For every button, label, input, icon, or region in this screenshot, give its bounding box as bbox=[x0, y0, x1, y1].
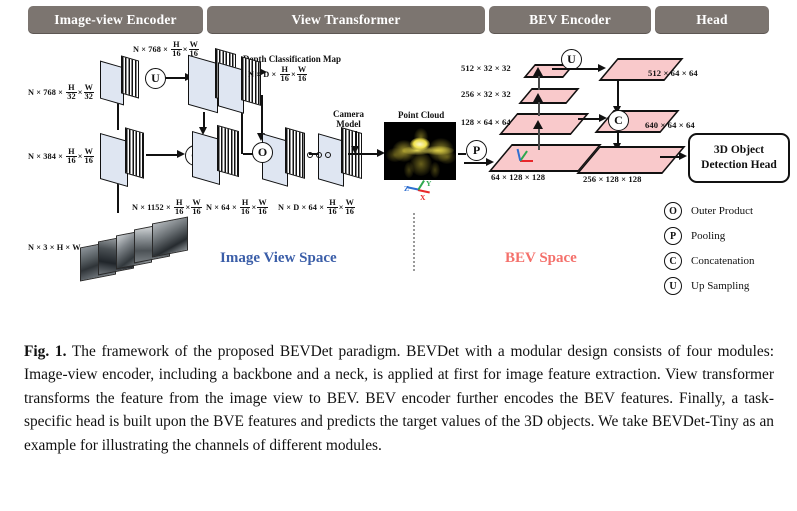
legend-row-outer-product: O Outer Product bbox=[664, 202, 753, 220]
caption-prefix: Fig. 1. bbox=[24, 343, 66, 360]
axis-x-line bbox=[520, 160, 533, 162]
operator-pooling: P bbox=[466, 140, 487, 161]
block-face bbox=[100, 133, 128, 187]
block-side bbox=[285, 127, 305, 179]
arrow-head bbox=[679, 152, 687, 160]
module-header-label: Head bbox=[696, 12, 728, 28]
arrow-head bbox=[177, 150, 185, 158]
block-side bbox=[217, 125, 239, 177]
legend-symbol: O bbox=[669, 206, 677, 217]
module-header-label: View Transformer bbox=[291, 12, 400, 28]
camera-model-line1: Camera bbox=[333, 109, 364, 119]
module-header-head: Head bbox=[655, 6, 769, 33]
figure-diagram: Image-view Encoder View Transformer BEV … bbox=[0, 0, 797, 330]
label-feat64-tensor: N × 64 × H16×W16 bbox=[206, 199, 269, 217]
arrow-bev-up-2 bbox=[538, 100, 540, 116]
module-header-label: BEV Encoder bbox=[529, 12, 611, 28]
label-bev-128-64-64: 128 × 64 × 64 bbox=[461, 117, 511, 127]
operator-symbol: C bbox=[614, 113, 623, 128]
legend-label: Outer Product bbox=[691, 205, 753, 217]
operator-symbol: U bbox=[567, 52, 576, 67]
bev-slab-256-32-32 bbox=[518, 88, 579, 104]
feature-block-frustum bbox=[318, 133, 366, 185]
label-bev-640-64-64: 640 × 64 × 64 bbox=[645, 120, 695, 130]
arrow-to-bev-concat bbox=[617, 80, 619, 108]
axis-z-line bbox=[517, 149, 521, 161]
label-bev-64-128-128: 64 × 128 × 128 bbox=[491, 172, 545, 182]
arrow-depth-to-outer bbox=[261, 95, 263, 135]
operator-up-sampling: U bbox=[145, 68, 166, 89]
feature-block-backbone-c5 bbox=[100, 60, 144, 106]
legend-label: Pooling bbox=[691, 230, 725, 242]
label-concat-tensor: N × 1152 × H16×W16 bbox=[132, 199, 203, 217]
operator-outer-product: O bbox=[252, 142, 273, 163]
label-depth-map-tensor: N × D × H16×W16 bbox=[248, 66, 308, 84]
block-side bbox=[121, 55, 139, 98]
arrow-bev-up-1 bbox=[538, 128, 540, 150]
legend-row-pooling: P Pooling bbox=[664, 227, 725, 245]
operator-up-sampling-bev: U bbox=[561, 49, 582, 70]
camera-model-line2: Model bbox=[336, 119, 361, 129]
arrow-upsample-bev bbox=[552, 68, 600, 70]
bev-slab-128-64-64 bbox=[499, 113, 589, 135]
legend-row-concatenation: C Concatenation bbox=[664, 252, 755, 270]
legend-icon-pooling: P bbox=[664, 227, 682, 245]
legend-label: Concatenation bbox=[691, 255, 755, 267]
label-bev-256-128-128: 256 × 128 × 128 bbox=[583, 174, 642, 184]
title-point-cloud: Point Cloud bbox=[398, 110, 444, 120]
axis-z-label: Z bbox=[404, 184, 409, 193]
label-bev-space: BEV Space bbox=[505, 250, 577, 267]
legend-icon-up-sampling: U bbox=[664, 277, 682, 295]
legend-label: Up Sampling bbox=[691, 280, 749, 292]
block-face bbox=[188, 55, 218, 114]
arrow-upsample bbox=[165, 77, 187, 79]
label-bev-512-32-32: 512 × 32 × 32 bbox=[461, 63, 511, 73]
axis-x-label: X bbox=[420, 193, 425, 202]
label-upsampled-tensor: N × 768 × H16×W16 bbox=[133, 41, 200, 59]
camera-image bbox=[152, 217, 188, 258]
module-header-image-view-encoder: Image-view Encoder bbox=[28, 6, 203, 33]
head-box-line1: 3D Object bbox=[714, 144, 764, 156]
label-image-view-space: Image View Space bbox=[220, 250, 337, 267]
operator-concatenation-bev: C bbox=[608, 110, 629, 131]
label-bev-256-32-32: 256 × 32 × 32 bbox=[461, 89, 511, 99]
module-header-bev-encoder: BEV Encoder bbox=[489, 6, 651, 33]
head-box-line2: Detection Head bbox=[701, 159, 777, 171]
legend-icon-concatenation: C bbox=[664, 252, 682, 270]
block-face bbox=[192, 131, 220, 185]
legend-icon-outer-product: O bbox=[664, 202, 682, 220]
arrow-pool-out bbox=[464, 162, 488, 164]
point-cloud-visualization bbox=[384, 122, 456, 180]
label-frustum-tensor: N × D × 64 × H16×W16 bbox=[278, 199, 356, 217]
space-divider bbox=[413, 213, 415, 271]
legend: O Outer Product P Pooling C Concatenatio… bbox=[664, 202, 794, 302]
module-header-label: Image-view Encoder bbox=[54, 12, 176, 28]
label-backbone-c4-tensor: N × 384 × H16×W16 bbox=[28, 148, 95, 166]
block-side bbox=[125, 127, 144, 178]
title-camera-model: Camera Model bbox=[333, 109, 364, 130]
label-backbone-c5-tensor: N × 768 × H32×W32 bbox=[28, 84, 95, 102]
figure-caption: Fig. 1. The framework of the proposed BE… bbox=[24, 340, 774, 457]
axis-y-label: Y bbox=[426, 179, 431, 188]
point-cloud-axis-triad: Z Y X bbox=[404, 181, 444, 203]
operator-symbol: O bbox=[258, 145, 267, 160]
operator-symbol: U bbox=[151, 71, 160, 86]
module-header-view-transformer: View Transformer bbox=[207, 6, 485, 33]
legend-symbol: C bbox=[669, 256, 676, 267]
input-camera-image-stack bbox=[80, 218, 188, 284]
operator-symbol: P bbox=[473, 143, 480, 158]
arrow-head bbox=[598, 64, 606, 72]
arrow-pc-to-pool bbox=[458, 153, 466, 155]
feature-block-concat bbox=[192, 131, 242, 183]
arrow-head bbox=[533, 93, 543, 102]
label-input-tensor: N × 3 × H × W bbox=[28, 243, 81, 252]
legend-row-up-sampling: U Up Sampling bbox=[664, 277, 749, 295]
bev-axis-triad bbox=[516, 148, 540, 166]
ellipsis-dots bbox=[307, 152, 331, 158]
label-bev-512-64-64: 512 × 64 × 64 bbox=[648, 68, 698, 78]
arrow-head bbox=[533, 67, 543, 76]
arrow-to-point-cloud bbox=[348, 153, 380, 155]
arrow-c4-to-concat bbox=[146, 154, 179, 156]
arrow-bev-up-3 bbox=[538, 74, 540, 90]
caption-text: The framework of the proposed BEVDet par… bbox=[24, 343, 774, 454]
legend-symbol: U bbox=[669, 281, 676, 292]
feature-block-backbone-c4 bbox=[100, 133, 144, 183]
legend-symbol: P bbox=[670, 231, 676, 242]
arrow-head bbox=[533, 120, 543, 129]
head-box-3d-object-detection: 3D Object Detection Head bbox=[688, 133, 790, 183]
